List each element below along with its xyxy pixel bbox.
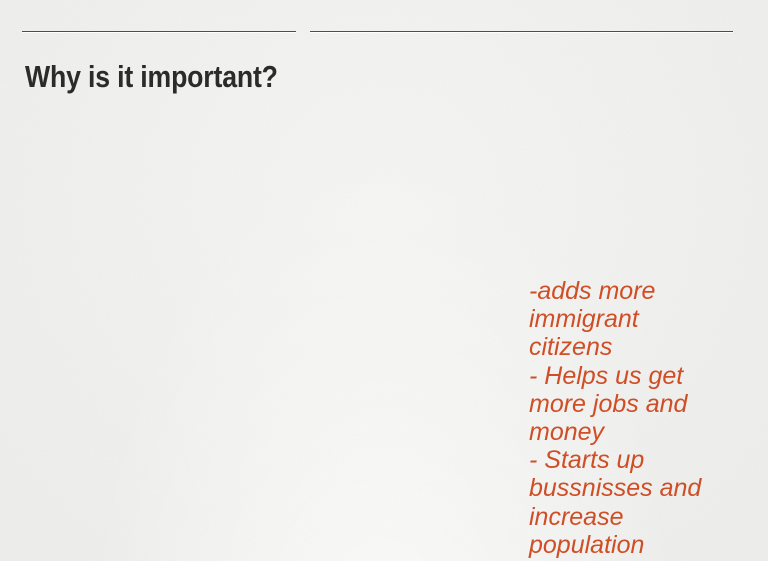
header-rule-left <box>22 31 296 32</box>
body-text-block: -adds more immigrant citizens - Helps us… <box>529 277 721 559</box>
slide-canvas: Why is it important? -adds more immigran… <box>0 0 768 561</box>
page-title: Why is it important? <box>25 58 278 96</box>
header-rule-right <box>310 31 733 32</box>
